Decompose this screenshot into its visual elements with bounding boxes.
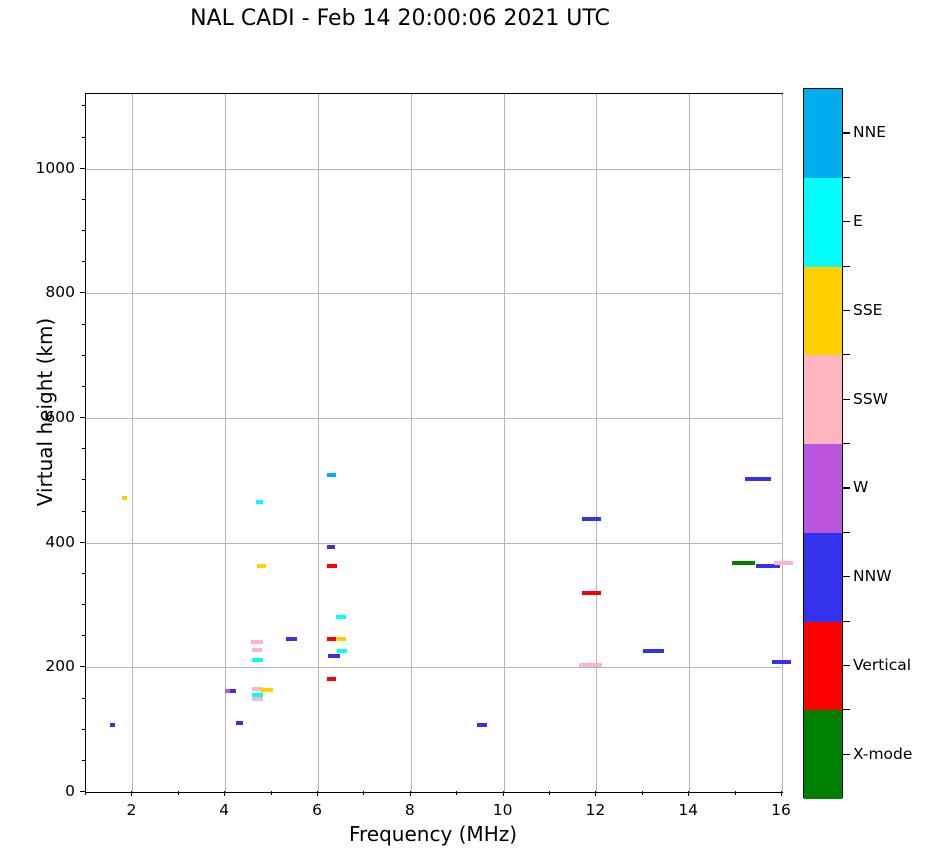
x-axis-tick-label: 10 [493, 801, 513, 819]
colorbar-tick [843, 754, 850, 755]
data-mark [336, 615, 346, 619]
data-mark [230, 689, 236, 693]
x-axis-tick [688, 791, 689, 796]
data-mark [252, 658, 263, 662]
colorbar-segment-x-mode [804, 710, 842, 799]
data-mark [327, 545, 335, 549]
y-axis-minor-tick [82, 760, 86, 761]
x-axis-tick [131, 791, 132, 796]
data-mark [477, 723, 487, 727]
data-mark [579, 663, 602, 667]
colorbar-tick [843, 487, 850, 488]
x-axis-minor-tick [456, 791, 457, 795]
colorbar-segment-e [804, 178, 842, 267]
x-axis-minor-tick [549, 791, 550, 795]
y-axis-minor-tick [82, 199, 86, 200]
colorbar-label-nne: NNE [853, 123, 886, 141]
y-axis-tick [80, 292, 85, 293]
colorbar-segment-nne [804, 89, 842, 178]
data-mark [252, 648, 262, 652]
data-mark [774, 561, 793, 565]
y-axis-tick-label: 200 [15, 657, 75, 675]
x-axis-tick-label: 2 [126, 801, 136, 819]
x-axis-tick [503, 791, 504, 796]
x-axis-minor-tick [85, 791, 86, 795]
x-axis-minor-tick [178, 791, 179, 795]
x-axis-tick [317, 791, 318, 796]
y-axis-tick [80, 666, 85, 667]
y-axis-minor-tick [82, 230, 86, 231]
y-axis-minor-tick [82, 698, 86, 699]
x-axis-tick [595, 791, 596, 796]
x-axis-tick-label: 8 [405, 801, 415, 819]
colorbar-segment-nnw [804, 533, 842, 622]
y-axis-minor-tick [82, 137, 86, 138]
y-axis-tick [80, 417, 85, 418]
colorbar-label-x-mode: X-mode [853, 745, 912, 763]
x-axis-minor-tick [363, 791, 364, 795]
colorbar-label-vertical: Vertical [853, 656, 911, 674]
colorbar-tick [843, 310, 850, 311]
data-mark [251, 640, 263, 644]
y-axis-minor-tick [82, 635, 86, 636]
colorbar-label-w: W [853, 478, 868, 496]
colorbar-segment-w [804, 444, 842, 533]
data-mark [327, 677, 336, 681]
data-mark [110, 723, 115, 727]
colorbar-boundary-tick [843, 621, 850, 622]
colorbar-boundary-tick [843, 532, 850, 533]
ionogram-figure: NAL CADI - Feb 14 20:00:06 2021 UTC 2468… [0, 0, 951, 856]
colorbar-segment-ssw [804, 355, 842, 444]
x-axis-minor-tick [735, 791, 736, 795]
data-mark [256, 500, 263, 504]
colorbar-tick [843, 221, 850, 222]
x-axis-title: Frequency (MHz) [85, 822, 781, 846]
data-mark [582, 517, 601, 521]
y-axis-minor-tick [82, 324, 86, 325]
colorbar-label-e: E [853, 212, 863, 230]
y-axis-minor-tick [82, 573, 86, 574]
x-axis-tick-label: 4 [219, 801, 229, 819]
data-mark [236, 721, 243, 725]
data-mark [327, 473, 335, 477]
colorbar-boundary-tick [843, 177, 850, 178]
data-mark [257, 564, 265, 568]
data-mark [122, 496, 127, 500]
y-axis-tick-label: 0 [15, 782, 75, 800]
colorbar-boundary-tick [843, 709, 850, 710]
colorbar-tick [843, 132, 850, 133]
x-axis-tick-label: 6 [312, 801, 322, 819]
colorbar-tick [843, 576, 850, 577]
colorbar-label-ssw: SSW [853, 390, 888, 408]
data-mark [772, 660, 791, 664]
data-mark [286, 637, 297, 641]
y-axis-minor-tick [82, 511, 86, 512]
plot-area [85, 93, 783, 793]
data-mark [327, 564, 337, 568]
x-axis-minor-tick [642, 791, 643, 795]
page-title: NAL CADI - Feb 14 20:00:06 2021 UTC [0, 6, 800, 31]
x-axis-tick-label: 14 [678, 801, 698, 819]
y-axis-tick [80, 542, 85, 543]
y-axis-minor-tick [82, 355, 86, 356]
x-axis-tick [781, 791, 782, 796]
gridline-vertical [782, 94, 783, 792]
x-axis-tick-label: 12 [586, 801, 606, 819]
colorbar-label-nnw: NNW [853, 567, 892, 585]
colorbar-tick [843, 399, 850, 400]
data-layer [86, 94, 782, 792]
x-axis-tick [410, 791, 411, 796]
colorbar-label-sse: SSE [853, 301, 882, 319]
x-axis-tick-label: 16 [771, 801, 791, 819]
data-mark [582, 591, 601, 595]
colorbar-boundary-tick [843, 443, 850, 444]
colorbar [803, 88, 843, 798]
y-axis-tick [80, 168, 85, 169]
colorbar-boundary-tick [843, 354, 850, 355]
x-axis-tick [224, 791, 225, 796]
data-mark [336, 637, 346, 641]
data-mark [643, 649, 664, 653]
data-mark [745, 477, 771, 481]
y-axis-minor-tick [82, 105, 86, 106]
y-axis-minor-tick [82, 261, 86, 262]
colorbar-segment-vertical [804, 622, 842, 711]
y-axis-minor-tick [82, 729, 86, 730]
y-axis-tick-label: 1000 [15, 159, 75, 177]
colorbar-tick [843, 665, 850, 666]
y-axis-minor-tick [82, 448, 86, 449]
colorbar-boundary-tick [843, 266, 850, 267]
y-axis-minor-tick [82, 479, 86, 480]
y-axis-tick [80, 791, 85, 792]
data-mark [732, 561, 755, 565]
x-axis-minor-tick [271, 791, 272, 795]
y-axis-minor-tick [82, 604, 86, 605]
data-mark [328, 654, 340, 658]
data-mark [337, 649, 347, 653]
y-axis-minor-tick [82, 386, 86, 387]
data-mark [252, 697, 263, 701]
y-axis-title: Virtual height (km) [33, 272, 57, 552]
colorbar-segment-sse [804, 267, 842, 356]
